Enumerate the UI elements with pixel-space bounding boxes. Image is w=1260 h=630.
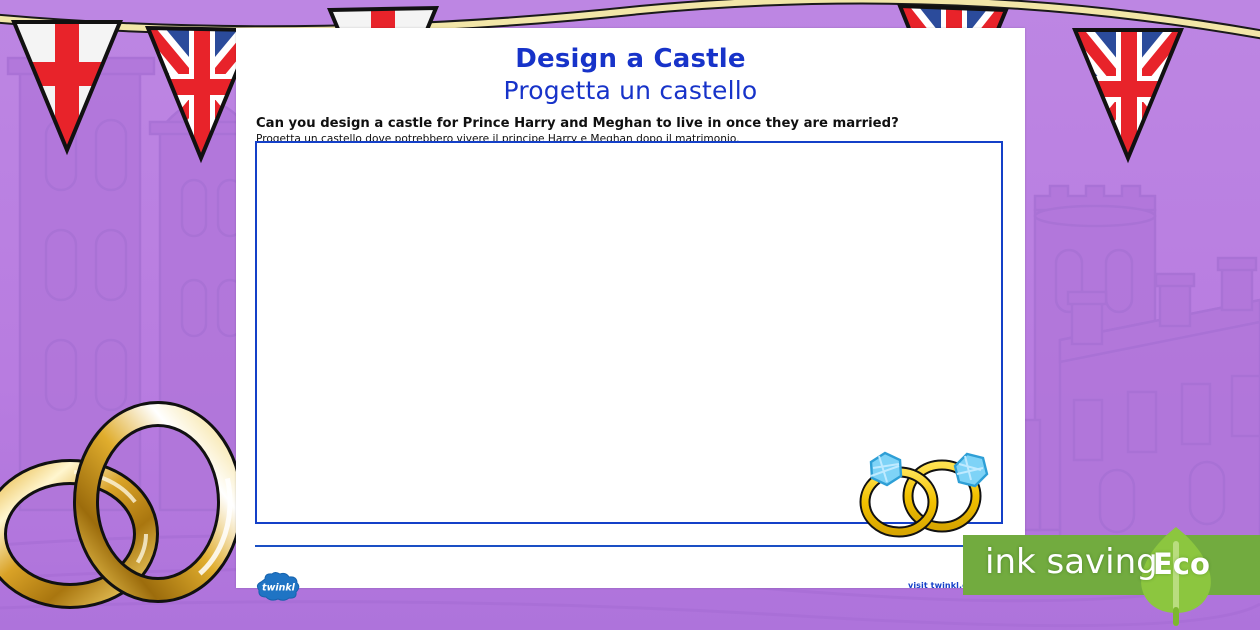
drawing-area[interactable] — [255, 141, 1003, 524]
worksheet-screenshot: Design a Castle Progetta un castello Can… — [0, 0, 1260, 630]
wedding-rings-decoration — [0, 392, 236, 630]
page-title-english: Design a Castle — [236, 44, 1025, 74]
page-title-italian: Progetta un castello — [236, 76, 1025, 105]
eco-badge-eco-text: Eco — [1153, 550, 1210, 579]
eco-badge-ink-text: ink saving — [985, 545, 1158, 579]
footer-divider — [255, 545, 1005, 547]
ink-saving-eco-badge: ink saving Eco — [963, 535, 1260, 595]
bunting-flag-unionjack-3 — [1075, 28, 1183, 160]
worksheet-page: Design a Castle Progetta un castello Can… — [236, 28, 1025, 588]
twinkl-logo[interactable]: twinkl — [255, 572, 302, 602]
bunting-flag-england-1 — [14, 22, 120, 150]
svg-text:twinkl: twinkl — [262, 583, 296, 594]
engagement-rings-icon — [847, 444, 995, 536]
instruction-english: Can you design a castle for Prince Harry… — [256, 116, 1025, 131]
